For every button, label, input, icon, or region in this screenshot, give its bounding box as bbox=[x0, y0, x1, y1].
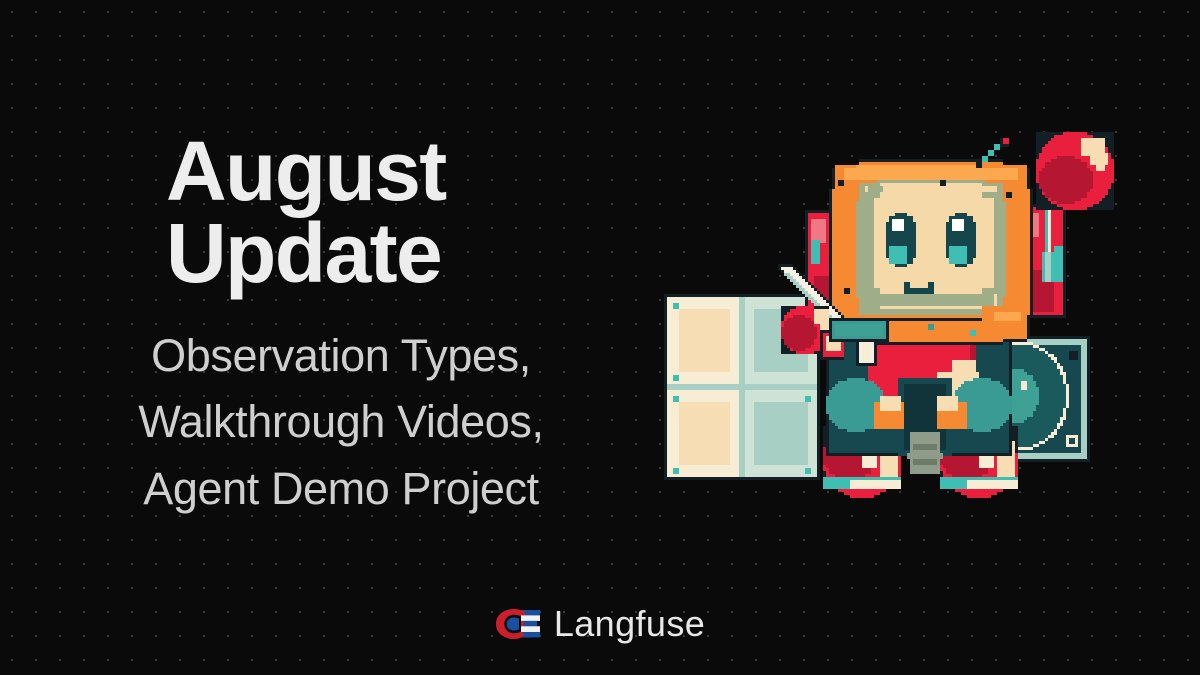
text-column: August Update Observation Types, Walkthr… bbox=[0, 130, 680, 522]
headline-line-1: August bbox=[166, 124, 446, 218]
subtitle-line-1: Observation Types, bbox=[0, 323, 682, 390]
brand-lockup: Langfuse bbox=[0, 606, 1200, 642]
poster-canvas: August Update Observation Types, Walkthr… bbox=[0, 0, 1200, 675]
headline-line-2: Update bbox=[166, 212, 680, 294]
pixel-art-robot-illustration bbox=[640, 120, 1120, 510]
page-title: August Update bbox=[0, 130, 680, 295]
subtitle: Observation Types, Walkthrough Videos, A… bbox=[0, 323, 682, 523]
langfuse-logo-icon bbox=[495, 607, 541, 641]
brand-name: Langfuse bbox=[554, 606, 705, 642]
subtitle-line-3: Agent Demo Project bbox=[0, 456, 682, 523]
subtitle-line-2: Walkthrough Videos, bbox=[0, 389, 682, 456]
